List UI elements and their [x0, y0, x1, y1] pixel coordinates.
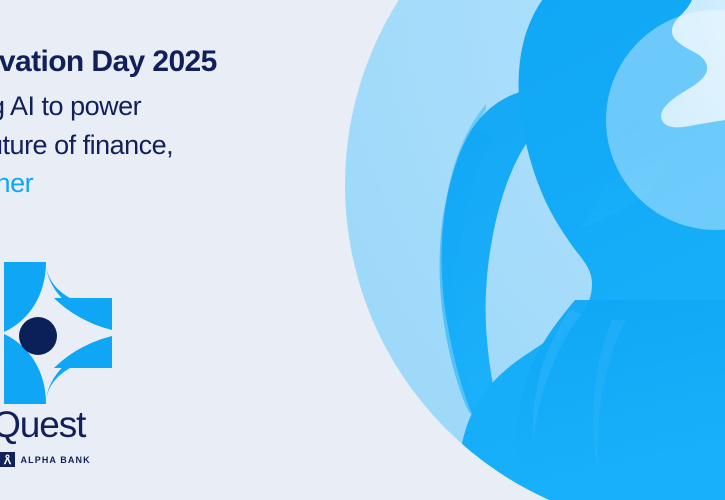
subtitle-line-2: the future of finance, — [0, 126, 338, 164]
logo-lockup: FinQuest Powered by ALPHA BANK — [0, 258, 242, 467]
headline-block: Innovation Day 2025 Using AI to power th… — [0, 46, 338, 202]
powered-by-lockup: Powered by ALPHA BANK — [0, 452, 242, 467]
alpha-bank-name: ALPHA BANK — [21, 455, 91, 465]
subtitle-line-3: together — [0, 164, 338, 202]
finquest-logo-icon — [0, 258, 118, 408]
page-title: Innovation Day 2025 — [0, 46, 338, 78]
finquest-logo-dot — [19, 317, 57, 355]
finquest-wordmark: FinQuest — [0, 406, 242, 443]
alpha-bank-icon — [0, 452, 15, 467]
subtitle-line-1: Using AI to power — [0, 87, 338, 125]
subtitle: Using AI to power the future of finance,… — [0, 87, 338, 202]
banner-canvas: Innovation Day 2025 Using AI to power th… — [0, 0, 725, 500]
